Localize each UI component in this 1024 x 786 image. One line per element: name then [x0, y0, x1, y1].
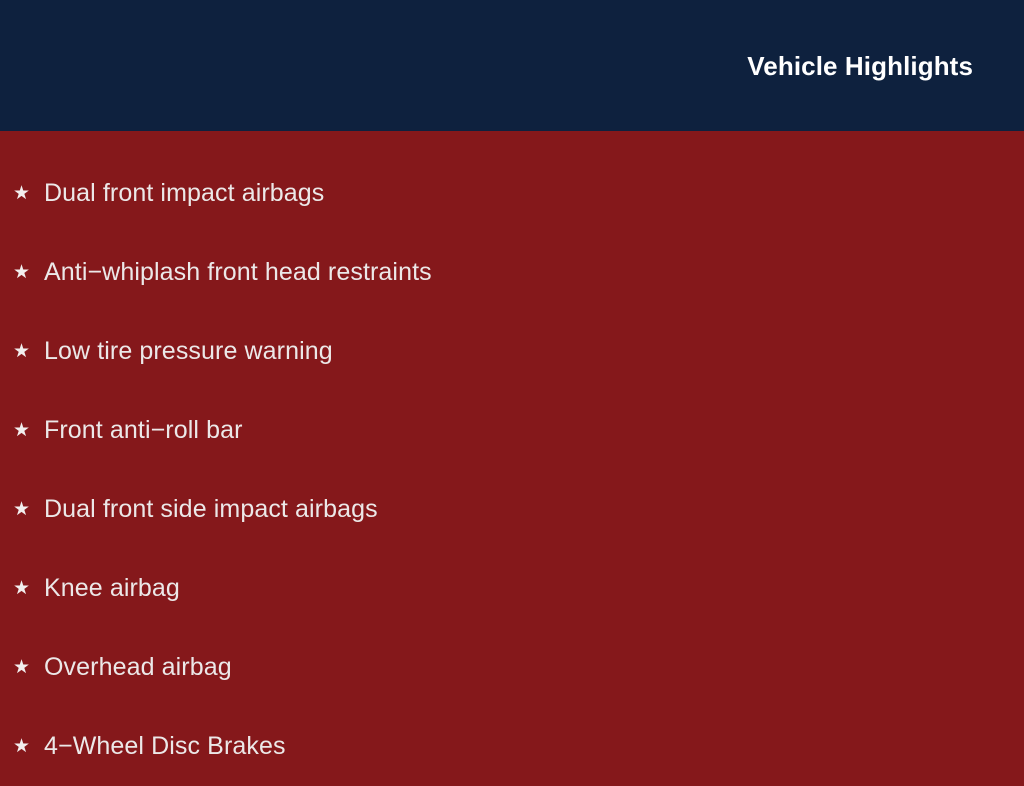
- star-icon: ★: [13, 579, 44, 598]
- slide-header: Vehicle Highlights: [0, 0, 1024, 131]
- highlights-list: ★Dual front impact airbags★Anti−whiplash…: [0, 154, 1024, 786]
- highlight-label: Dual front side impact airbags: [44, 496, 1024, 524]
- star-icon: ★: [13, 184, 44, 203]
- highlight-label: Overhead airbag: [44, 654, 1024, 682]
- star-icon: ★: [13, 263, 44, 282]
- star-icon: ★: [13, 737, 44, 756]
- highlight-label: Low tire pressure warning: [44, 338, 1024, 366]
- list-item: ★4−Wheel Disc Brakes: [0, 707, 1024, 786]
- page-title: Vehicle Highlights: [747, 53, 973, 79]
- highlight-label: Knee airbag: [44, 575, 1024, 603]
- list-item: ★Overhead airbag: [0, 628, 1024, 707]
- vehicle-highlights-slide: Vehicle Highlights ★Dual front impact ai…: [0, 0, 1024, 768]
- highlight-label: Dual front impact airbags: [44, 180, 1024, 208]
- highlight-label: 4−Wheel Disc Brakes: [44, 733, 1024, 761]
- star-icon: ★: [13, 500, 44, 519]
- list-item: ★Dual front impact airbags: [0, 154, 1024, 233]
- list-item: ★Anti−whiplash front head restraints: [0, 233, 1024, 312]
- list-item: ★Dual front side impact airbags: [0, 470, 1024, 549]
- highlight-label: Front anti−roll bar: [44, 417, 1024, 445]
- slide-body: ★Dual front impact airbags★Anti−whiplash…: [0, 131, 1024, 768]
- star-icon: ★: [13, 342, 44, 361]
- star-icon: ★: [13, 421, 44, 440]
- list-item: ★Knee airbag: [0, 549, 1024, 628]
- star-icon: ★: [13, 658, 44, 677]
- list-item: ★Low tire pressure warning: [0, 312, 1024, 391]
- highlight-label: Anti−whiplash front head restraints: [44, 259, 1024, 287]
- list-item: ★Front anti−roll bar: [0, 391, 1024, 470]
